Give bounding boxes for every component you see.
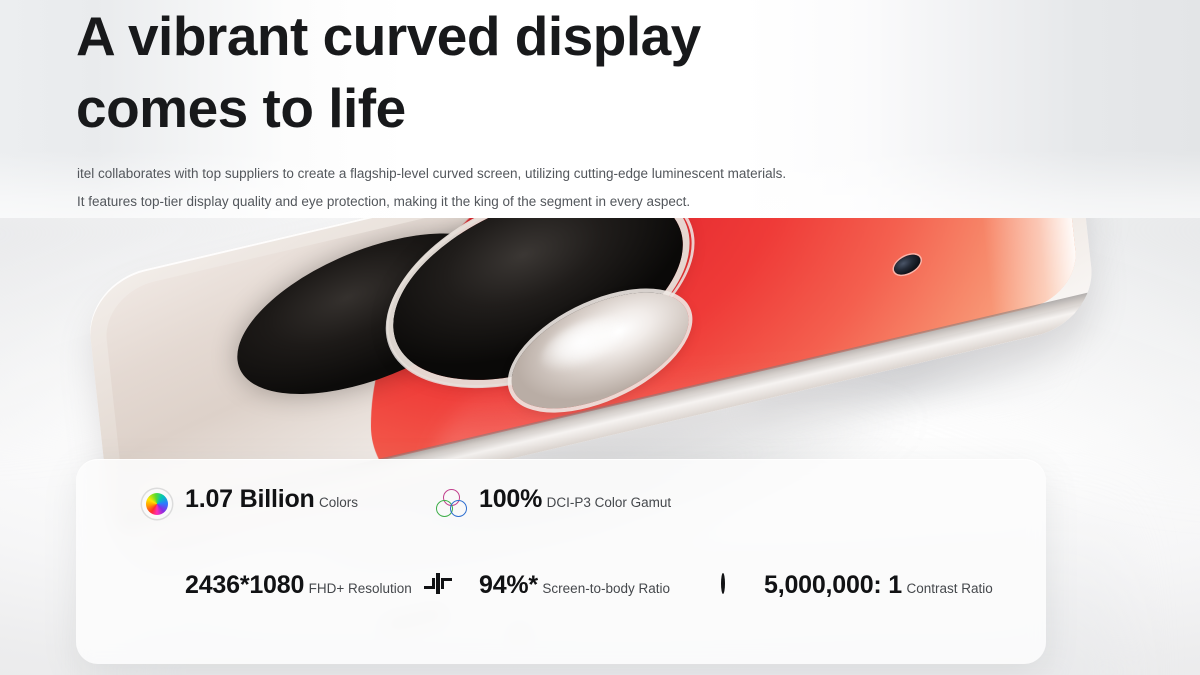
dci-p3-venn-icon xyxy=(436,489,466,519)
spec-value: 2436*1080 xyxy=(185,571,304,599)
contrast-circle-icon xyxy=(721,575,751,605)
screen-frame-icon xyxy=(436,575,466,605)
spec-value: 100% xyxy=(479,485,542,513)
spec-value: 5,000,000: 1 xyxy=(764,571,902,599)
spec-text: 2436*1080 FHD+ Resolution xyxy=(185,571,412,600)
spec-label: DCI-P3 Color Gamut xyxy=(547,495,672,510)
spec-row: 1.07 Billion Colors 100% DCI-P3 Color Ga… xyxy=(76,485,1046,559)
hero-description: itel collaborates with top suppliers to … xyxy=(77,160,977,216)
description-line-1: itel collaborates with top suppliers to … xyxy=(77,160,977,188)
spec-value: 1.07 Billion xyxy=(185,485,315,513)
spec-text: 1.07 Billion Colors xyxy=(185,485,358,514)
spec-label: Contrast Ratio xyxy=(906,581,992,596)
spec-text: 94%* Screen-to-body Ratio xyxy=(479,571,670,600)
description-line-2: It features top-tier display quality and… xyxy=(77,188,977,216)
spec-grid: 1.07 Billion Colors 100% DCI-P3 Color Ga… xyxy=(76,459,1046,664)
spec-label: FHD+ Resolution xyxy=(309,581,412,596)
page-root: A vibrant curved display comes to life i… xyxy=(0,0,1200,675)
spec-text: 5,000,000: 1 Contrast Ratio xyxy=(764,571,993,600)
spec-value: 94%* xyxy=(479,571,538,599)
color-wheel-icon xyxy=(142,489,172,519)
headline-line-1: A vibrant curved display xyxy=(76,5,701,67)
spec-item-colors: 1.07 Billion Colors xyxy=(142,485,358,519)
spec-item-resolution: 2436*1080 FHD+ Resolution xyxy=(142,571,412,605)
spec-item-contrast-ratio: 5,000,000: 1 Contrast Ratio xyxy=(721,571,993,605)
spec-item-screen-to-body: 94%* Screen-to-body Ratio xyxy=(436,571,670,605)
spec-item-color-gamut: 100% DCI-P3 Color Gamut xyxy=(436,485,671,519)
spec-label: Screen-to-body Ratio xyxy=(542,581,670,596)
spec-card: 1.07 Billion Colors 100% DCI-P3 Color Ga… xyxy=(76,459,1046,664)
spec-label: Colors xyxy=(319,495,358,510)
page-title: A vibrant curved display comes to life xyxy=(76,0,956,144)
checkerboard-icon xyxy=(142,575,172,605)
spec-row: 2436*1080 FHD+ Resolution 94%* Screen-to… xyxy=(76,571,1046,645)
spec-text: 100% DCI-P3 Color Gamut xyxy=(479,485,671,514)
headline-line-2: comes to life xyxy=(76,77,406,139)
